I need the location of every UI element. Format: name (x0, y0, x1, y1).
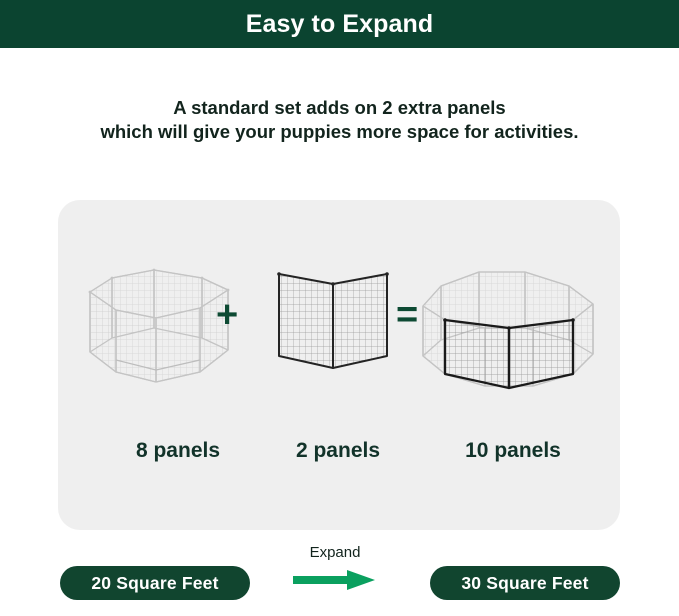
infographic-page: Easy to Expand A standard set adds on 2 … (0, 0, 679, 616)
illustration-row: + (58, 248, 620, 398)
subtitle-line-1: A standard set adds on 2 extra panels (0, 96, 679, 120)
label-ten-panels: 10 panels (433, 438, 593, 464)
badge-thirty-square-feet: 30 Square Feet (430, 566, 620, 600)
page-title: Easy to Expand (246, 12, 434, 37)
arrow-right-icon (293, 568, 377, 597)
panel-count-labels: 8 panels 2 panels 10 panels (58, 438, 620, 468)
subtitle-block: A standard set adds on 2 extra panels wh… (0, 96, 679, 144)
expand-label: Expand (285, 544, 385, 562)
highlighted-added-panels (445, 320, 573, 388)
footer-row: 20 Square Feet Expand 30 Square Feet (0, 566, 679, 616)
label-eight-panels: 8 panels (98, 438, 258, 464)
ten-panel-pen-illustration (413, 248, 603, 398)
label-two-panels: 2 panels (258, 438, 418, 464)
subtitle-line-2: which will give your puppies more space … (0, 120, 679, 144)
badge-twenty-square-feet: 20 Square Feet (60, 566, 250, 600)
expand-indicator: Expand (285, 544, 385, 600)
illustration-card: + (58, 200, 620, 530)
plus-operator-icon: + (216, 296, 238, 334)
header-bar: Easy to Expand (0, 0, 679, 48)
two-panel-addon-illustration (263, 248, 403, 398)
